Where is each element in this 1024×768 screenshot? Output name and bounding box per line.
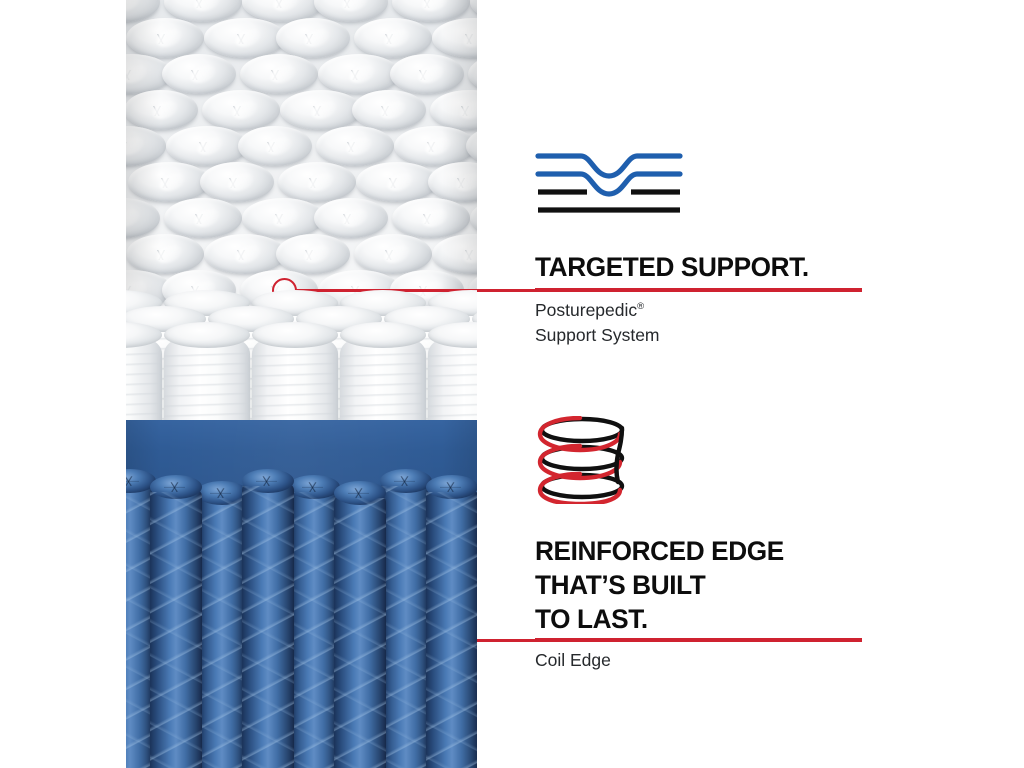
coil-cylinder-white — [164, 332, 250, 420]
coil-cylinder-blue — [426, 484, 477, 768]
coil-top — [242, 198, 324, 238]
coil-top — [430, 90, 477, 130]
coil-top — [318, 54, 400, 94]
feature-title-reinforced-edge-line1: REINFORCED EDGE — [535, 534, 784, 568]
coil-top — [126, 126, 166, 166]
coil-cylinder-blue — [196, 490, 248, 768]
coil-top — [200, 162, 274, 202]
coil-cylinder-white — [252, 332, 338, 420]
white-coil-layer — [126, 0, 477, 420]
coil-top — [128, 162, 210, 202]
feature-title-targeted-support: TARGETED SUPPORT. — [535, 250, 809, 284]
coil-top — [466, 126, 477, 166]
coil-top — [354, 234, 432, 274]
poster-canvas: TARGETED SUPPORT. Posturepedic®Support S… — [0, 0, 1024, 768]
coil-top — [316, 126, 394, 166]
feature-subtitle-targeted-support: Posturepedic®Support System — [535, 298, 660, 348]
product-photo — [126, 0, 477, 768]
feature-rule-reinforced-edge — [535, 638, 862, 640]
coil-top — [394, 126, 476, 166]
coil-spring-icon — [534, 416, 644, 504]
coil-top — [356, 162, 438, 202]
coil-top — [204, 18, 286, 58]
coil-top — [354, 18, 432, 58]
coil-top — [164, 198, 242, 238]
coil-top — [392, 198, 470, 238]
coil-top — [240, 54, 318, 94]
coil-cylinder-white — [340, 332, 426, 420]
feature-title-reinforced-edge-line2: THAT’S BUILT — [535, 568, 705, 602]
feature-subtitle-line2: Support System — [535, 325, 660, 345]
coil-top — [432, 234, 477, 274]
blue-coil-layer — [126, 400, 477, 768]
coil-top — [276, 18, 350, 58]
coil-top — [238, 126, 312, 166]
coil-top — [162, 54, 236, 94]
coil-top — [428, 162, 477, 202]
coil-top — [126, 18, 204, 58]
coil-cylinder-blue — [150, 484, 202, 768]
coil-top — [126, 234, 204, 274]
feature-rule-targeted-support — [535, 288, 862, 290]
feature-subtitle-line1: Posturepedic — [535, 300, 637, 320]
coil-top — [126, 90, 198, 130]
coil-cylinder-blue — [242, 478, 294, 768]
coil-top — [280, 90, 362, 130]
coil-cylinder-blue — [380, 478, 432, 768]
registered-mark: ® — [637, 301, 644, 312]
coil-cylinder-white — [428, 332, 477, 420]
coil-top — [166, 126, 248, 166]
coil-cylinder-blue — [288, 484, 340, 768]
coil-cylinder-white — [126, 332, 162, 420]
coil-top — [314, 198, 388, 238]
feature-title-reinforced-edge-line3: TO LAST. — [535, 602, 648, 636]
coil-top — [278, 162, 356, 202]
coil-top — [390, 54, 464, 94]
coil-top — [202, 90, 280, 130]
layered-wave-support-icon — [535, 146, 683, 216]
coil-top — [276, 234, 350, 274]
coil-cylinder-blue — [334, 490, 386, 768]
coil-top — [470, 198, 477, 238]
coil-top — [126, 198, 160, 238]
coil-top — [204, 234, 286, 274]
feature-subtitle-reinforced-edge: Coil Edge — [535, 648, 611, 673]
coil-top — [352, 90, 426, 130]
coil-top — [468, 54, 477, 94]
coil-top — [432, 18, 477, 58]
